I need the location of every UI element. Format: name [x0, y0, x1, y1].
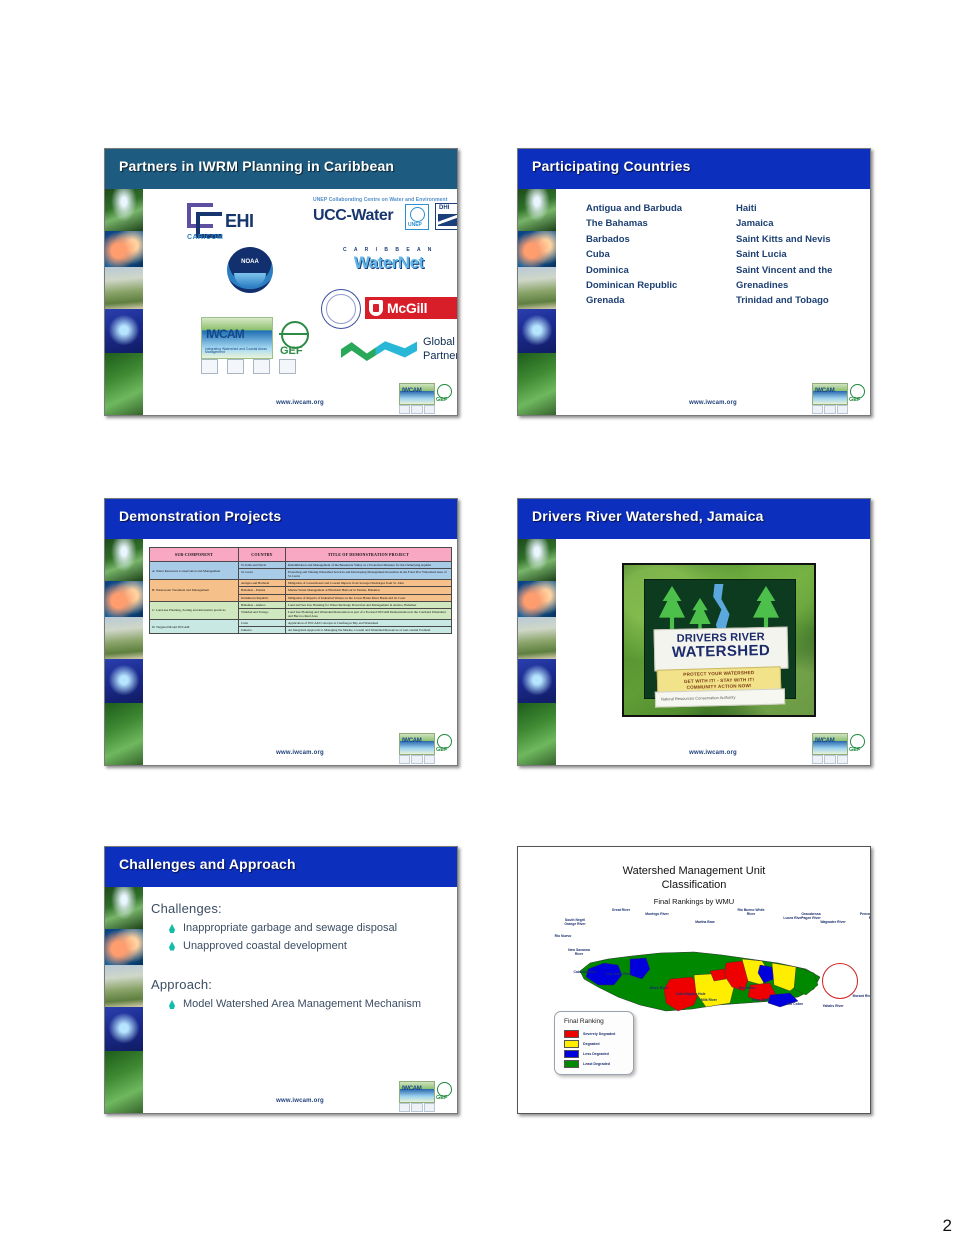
river-label: Wagwater River — [818, 921, 848, 925]
footer-url: www.iwcam.org — [276, 1098, 324, 1104]
photo-strip — [105, 887, 143, 1113]
caricom-label: CARICOM — [187, 234, 223, 241]
plants-photo — [105, 1051, 143, 1114]
river-label: Great River — [606, 909, 636, 913]
footer-logo: IWCAM GEF — [399, 1081, 453, 1111]
legend-item: Severely Degraded — [564, 1030, 615, 1038]
gef-label: GEF — [280, 345, 303, 357]
map-title-line-2: Classification — [518, 879, 870, 891]
waternet-label: WaterNet — [343, 253, 434, 273]
map-title-line-1: Watershed Management Unit — [518, 865, 870, 877]
footer-logo: IWCAM GEF — [812, 733, 866, 763]
approach-item: Model Watershed Area Management Mechanis… — [183, 996, 449, 1013]
coastal-garden-photo — [105, 267, 143, 309]
sign-credit: Natural Resources Conservation Authority — [661, 695, 736, 702]
sign-line-2: WATERSHED — [655, 642, 787, 662]
legend-label: Less Degraded — [583, 1052, 609, 1056]
plants-photo — [518, 353, 556, 416]
slide-header: Demonstration Projects — [105, 499, 457, 539]
university-seal-icon — [321, 289, 361, 329]
project-title-cell: Application of IWCAM Concepts at Cienfue… — [286, 619, 452, 626]
table-row: D: Targeted Model IWCAMCubaApplication o… — [150, 619, 452, 626]
project-title-cell: Mitigation of Groundwater and Coastal Im… — [286, 580, 452, 587]
legend-item: Less Degraded — [564, 1050, 609, 1058]
coastal-garden-photo — [105, 965, 143, 1007]
map-legend: Final Ranking Severely DegradedDegradedL… — [554, 1011, 634, 1075]
country-columns: Antigua and BarbudaThe BahamasBarbadosCu… — [586, 201, 864, 309]
legend-swatch — [564, 1060, 579, 1068]
unep-logo: UNEP — [405, 204, 429, 230]
mini-logo-1 — [201, 359, 218, 374]
slide-header: Challenges and Approach — [105, 847, 457, 887]
country-cell: Jamaica — [239, 627, 286, 634]
country-cell: Bahamas - Exuma — [239, 587, 286, 594]
project-title-cell: Mitigation of Impacts of Industrial Wast… — [286, 594, 452, 601]
river-label: Milk River — [694, 999, 724, 1003]
noaa-logo: NOAA — [227, 247, 273, 293]
project-title-cell: Marine Waste Management at Elizabeth Har… — [286, 587, 452, 594]
slide-header: Drivers River Watershed, Jamaica — [518, 499, 870, 539]
demonstration-projects-table: SUB-COMPONENTCOUNTRYTITLE OF DEMONSTRATI… — [149, 547, 452, 634]
river-label: Rio Minho — [732, 987, 762, 991]
country-cell: Trinidad and Tobago — [239, 608, 286, 619]
photo-strip — [518, 189, 556, 415]
country-column-left: Antigua and BarbudaThe BahamasBarbadosCu… — [586, 201, 714, 309]
coral-reef-photo — [518, 231, 556, 267]
mcgill-label: McGill — [387, 300, 427, 316]
slide-demonstration-projects: Demonstration Projects SUB-COMPONENTCOUN… — [104, 498, 458, 766]
water-glass-photo — [105, 1007, 143, 1051]
river-label: Rio Nuevo — [548, 935, 578, 939]
photo-strip — [105, 539, 143, 765]
photo-strip — [518, 539, 556, 765]
footer-logo: IWCAM GEF — [812, 383, 866, 413]
challenge-item: Inappropriate garbage and sewage disposa… — [183, 920, 449, 937]
challenge-item: Unapproved coastal development — [183, 938, 449, 955]
coral-reef-photo — [105, 581, 143, 617]
cehi-label: EHI — [225, 211, 254, 232]
slide-body: SUB-COMPONENTCOUNTRYTITLE OF DEMONSTRATI… — [143, 539, 457, 765]
table-header-row: SUB-COMPONENTCOUNTRYTITLE OF DEMONSTRATI… — [150, 548, 452, 562]
slide-wmu-map: Watershed Management Unit Classification… — [517, 846, 871, 1114]
page-number: 2 — [943, 1216, 952, 1236]
iwcam-logo: IWCAM Integrating Watershed and Coastal … — [201, 317, 273, 359]
coastal-garden-photo — [105, 617, 143, 659]
project-title-cell: An Integrated Approach to Managing the M… — [286, 627, 452, 634]
coral-reef-photo — [105, 231, 143, 267]
table-column-header: COUNTRY — [239, 548, 286, 562]
ucc-caption: UNEP Collaborating Centre on Water and E… — [313, 197, 447, 203]
footer-url: www.iwcam.org — [276, 750, 324, 756]
mcgill-shield-icon — [369, 300, 383, 316]
slide-title: Demonstration Projects — [119, 508, 281, 524]
sign-credit-plate: Natural Resources Conservation Authority — [655, 688, 785, 707]
slide-body: Challenges: Inappropriate garbage and se… — [143, 887, 457, 1113]
river-label: Montego River — [642, 913, 672, 917]
plants-photo — [518, 703, 556, 766]
legend-swatch — [564, 1040, 579, 1048]
footer-logo: IWCAM GEF — [399, 383, 453, 413]
slide-countries: Participating Countries Antigua and Barb… — [517, 148, 871, 416]
slide-header: Participating Countries — [518, 149, 870, 189]
slide-body: EHI CARICOM UNEP Collaborating Centre on… — [143, 189, 457, 415]
ucc-water-label: UCC-Water — [313, 207, 393, 225]
country-item: Saint Vincent and the Grenadines — [736, 263, 864, 294]
country-item: Antigua and Barbuda — [586, 201, 714, 216]
river-label: New Savanna River — [564, 949, 594, 957]
country-cell: Dominican Republic — [239, 594, 286, 601]
plants-photo — [105, 353, 143, 416]
approach-heading: Approach: — [151, 977, 449, 992]
sub-component-cell: C: Land-use Planning, Zoning and Alterna… — [150, 601, 239, 619]
gwp-label: Global Water Partnership — [423, 335, 458, 364]
slide-body: Antigua and BarbudaThe BahamasBarbadosCu… — [556, 189, 870, 415]
plants-photo — [105, 703, 143, 766]
slide-title: Participating Countries — [532, 158, 691, 174]
mini-logo-4 — [279, 359, 296, 374]
legend-title: Final Ranking — [564, 1018, 604, 1025]
river-label: Rio Cobre — [780, 1003, 810, 1007]
gef-logo: GEF — [277, 321, 311, 357]
slide-partners: Partners in IWRM Planning in Caribbean E… — [104, 148, 458, 416]
country-item: Grenada — [586, 293, 714, 308]
river-label: Yallahs River — [818, 1005, 848, 1009]
water-glass-photo — [518, 659, 556, 703]
water-glass-photo — [105, 309, 143, 353]
slide-title: Partners in IWRM Planning in Caribbean — [119, 158, 394, 174]
footer-logo: IWCAM GEF — [399, 733, 453, 763]
slide-challenges-approach: Challenges and Approach Challenges: Inap… — [104, 846, 458, 1114]
legend-label: Degraded — [583, 1042, 600, 1046]
footer-url: www.iwcam.org — [689, 400, 737, 406]
coastal-garden-photo — [518, 267, 556, 309]
table-row: B: Wastewater Treatment and ManagementAn… — [150, 580, 452, 587]
river-label: South Negril Orange River — [560, 919, 590, 927]
tree-icon — [753, 586, 779, 630]
legend-label: Least Degraded — [583, 1062, 610, 1066]
country-cell: St. Kitts and Nevis — [239, 562, 286, 569]
coral-reef-photo — [105, 929, 143, 965]
country-item: Trinidad and Tobago — [736, 293, 864, 308]
country-cell: St. Lucia — [239, 569, 286, 580]
waterfall-photo — [518, 539, 556, 581]
waterfall-photo — [518, 189, 556, 231]
slide-header: Partners in IWRM Planning in Caribbean — [105, 149, 457, 189]
sign-main-plate: DRIVERS RIVER WATERSHED — [654, 627, 789, 672]
dhi-label: DHI — [439, 205, 449, 211]
river-label: Pencar Buff Bay River — [858, 913, 871, 921]
sub-component-cell: B: Wastewater Treatment and Management — [150, 580, 239, 601]
country-item: Dominican Republic — [586, 278, 714, 293]
waternet-logo: C A R I B B E A N WaterNet — [343, 247, 434, 273]
slide-drivers-river: Drivers River Watershed, Jamaica DRIVERS… — [517, 498, 871, 766]
project-title-cell: Protecting and Valuing Watershed Service… — [286, 569, 452, 580]
waterfall-photo — [105, 539, 143, 581]
jamaica-map — [574, 939, 830, 1021]
map-subtitle: Final Rankings by WMU — [518, 897, 870, 906]
water-glass-photo — [105, 659, 143, 703]
sub-component-cell: A: Water Resources Conservation and Mana… — [150, 562, 239, 580]
challenges-heading: Challenges: — [151, 901, 449, 916]
wave-icon — [341, 339, 417, 361]
country-item: Cuba — [586, 247, 714, 262]
iwcam-sub-label: Integrating Watershed and Coastal Areas … — [205, 348, 272, 355]
legend-swatch — [564, 1050, 579, 1058]
sub-component-cell: D: Targeted Model IWCAM — [150, 619, 239, 633]
project-title-cell: Land Use Planning and Watershed Restorat… — [286, 608, 452, 619]
country-cell: Bahamas - Andros — [239, 601, 286, 608]
river-label: Salt Alligator Hole — [676, 993, 706, 997]
water-glass-photo — [518, 309, 556, 353]
river-label: Rio Bueno White River — [736, 909, 766, 917]
table-row: A: Water Resources Conservation and Mana… — [150, 562, 452, 569]
river-label: Morant River — [848, 995, 871, 999]
slide-body: DRIVERS RIVER WATERSHED PROTECT YOUR WAT… — [556, 539, 870, 765]
slide-title: Drivers River Watershed, Jamaica — [532, 508, 764, 524]
table-column-header: TITLE OF DEMONSTRATION PROJECT — [286, 548, 452, 562]
legend-label: Severely Degraded — [583, 1032, 615, 1036]
country-item: Dominica — [586, 263, 714, 278]
waterfall-photo — [105, 189, 143, 231]
country-item: Jamaica — [736, 216, 864, 231]
mcgill-logo: McGill — [365, 297, 458, 319]
jamaica-shape — [574, 939, 830, 1021]
mini-logo-3 — [253, 359, 270, 374]
footer-url: www.iwcam.org — [689, 750, 737, 756]
unep-label: UNEP — [408, 222, 422, 228]
project-title-cell: Land and Sea Use Planning for Water Rech… — [286, 601, 452, 608]
iwcam-label: IWCAM — [206, 327, 244, 341]
legend-swatch — [564, 1030, 579, 1038]
river-label: Spanish River — [870, 929, 871, 933]
tree-icon — [659, 586, 685, 630]
legend-item: Degraded — [564, 1040, 600, 1048]
mini-logo-2 — [227, 359, 244, 374]
legend-item: Least Degraded — [564, 1060, 610, 1068]
country-item: The Bahamas — [586, 216, 714, 231]
partner-mini-logos — [201, 359, 296, 374]
table-row: C: Land-use Planning, Zoning and Alterna… — [150, 601, 452, 608]
challenges-list: Inappropriate garbage and sewage disposa… — [151, 920, 449, 954]
dhi-logo: DHI — [435, 203, 458, 230]
river-label: Black River — [644, 987, 674, 991]
watershed-sign-photo: DRIVERS RIVER WATERSHED PROTECT YOUR WAT… — [622, 563, 816, 717]
river-label: Cabarita River — [570, 971, 600, 975]
country-item: Barbados — [586, 232, 714, 247]
approach-list: Model Watershed Area Management Mechanis… — [151, 996, 449, 1013]
cehi-logo: EHI CARICOM — [187, 203, 231, 233]
country-cell: Antigua and Barbuda — [239, 580, 286, 587]
coral-reef-photo — [518, 581, 556, 617]
country-column-right: HaitiJamaicaSaint Kitts and NevisSaint L… — [736, 201, 864, 309]
project-title-cell: Rehabilitation and Management of the Bas… — [286, 562, 452, 569]
sign-board: DRIVERS RIVER WATERSHED PROTECT YOUR WAT… — [644, 579, 796, 699]
content-area: Challenges: Inappropriate garbage and se… — [151, 901, 449, 1014]
river-label: Hope River — [746, 999, 776, 1003]
coastal-garden-photo — [518, 617, 556, 659]
photo-strip — [105, 189, 143, 415]
river-label: Dry Valley River — [604, 973, 634, 977]
country-item: Saint Lucia — [736, 247, 864, 262]
country-item: Saint Kitts and Nevis — [736, 232, 864, 247]
noaa-label: NOAA — [227, 259, 273, 265]
slide-title: Challenges and Approach — [119, 856, 296, 872]
river-label: Martha Brae — [690, 921, 720, 925]
waterfall-photo — [105, 887, 143, 929]
country-cell: Cuba — [239, 619, 286, 626]
table-column-header: SUB-COMPONENT — [150, 548, 239, 562]
footer-url: www.iwcam.org — [276, 400, 324, 406]
country-item: Haiti — [736, 201, 864, 216]
